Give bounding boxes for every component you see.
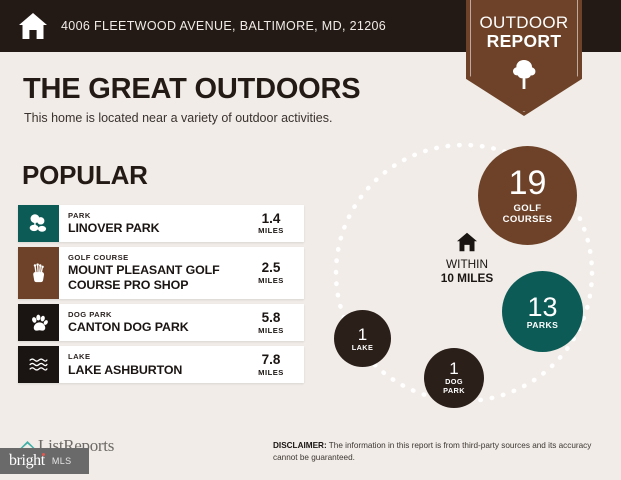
- stat-circle-dog-park[interactable]: 1 DOG PARK: [424, 348, 484, 408]
- stat-label-line1: DOG: [445, 377, 463, 386]
- stat-circle-lake[interactable]: 1 LAKE: [334, 310, 391, 367]
- golf-bag-icon: [27, 262, 50, 285]
- list-item-category: PARK: [68, 211, 244, 221]
- home-icon: [18, 12, 48, 40]
- badge-title: OUTDOOR REPORT: [466, 13, 582, 52]
- list-item-distance-value: 2.5: [262, 261, 281, 276]
- list-item-distance: 2.5 MILES: [244, 247, 304, 299]
- tree-icon: [509, 58, 539, 90]
- water-waves-icon: [27, 353, 50, 376]
- brightmls-wordmark: bright: [9, 452, 45, 470]
- list-item-icon-tile: [18, 205, 59, 242]
- list-item-distance: 1.4 MILES: [244, 205, 304, 242]
- list-item-icon-tile: [18, 304, 59, 341]
- page-subtitle: This home is located near a variety of o…: [24, 111, 332, 125]
- list-item-distance-value: 7.8: [262, 353, 281, 368]
- list-item-text: PARK LINOVER PARK: [59, 205, 244, 242]
- brightmls-suffix: MLS: [52, 456, 72, 466]
- list-item-name: MOUNT PLEASANT GOLF COURSE PRO SHOP: [68, 263, 244, 293]
- stat-label: PARKS: [527, 321, 558, 330]
- disclaimer: DISCLAIMER: The information in this repo…: [273, 440, 603, 464]
- list-item[interactable]: DOG PARK CANTON DOG PARK 5.8 MILES: [18, 304, 304, 341]
- home-icon: [456, 232, 478, 252]
- list-item-category: GOLF COURSE: [68, 253, 244, 263]
- stat-count: 13: [527, 293, 557, 321]
- stat-label: LAKE: [352, 344, 373, 352]
- disclaimer-label: DISCLAIMER:: [273, 441, 327, 450]
- park-trees-icon: [27, 212, 50, 235]
- stat-label-line2: COURSES: [503, 214, 553, 225]
- brightmls-logo: bright MLS: [0, 448, 89, 474]
- list-item-name: LAKE ASHBURTON: [68, 363, 244, 378]
- list-item-distance-unit: MILES: [258, 226, 284, 235]
- stat-circle-golf-courses[interactable]: 19 GOLF COURSES: [478, 146, 577, 245]
- stat-label: GOLF COURSES: [503, 203, 553, 225]
- list-item-icon-tile: [18, 247, 59, 299]
- property-address: 4006 FLEETWOOD AVENUE, BALTIMORE, MD, 21…: [61, 19, 386, 33]
- list-item-text: LAKE LAKE ASHBURTON: [59, 346, 244, 383]
- list-item-name: CANTON DOG PARK: [68, 320, 244, 335]
- diagram-center-text: WITHIN 10 MILES: [412, 257, 522, 286]
- list-item-distance-value: 1.4: [262, 212, 281, 227]
- list-item-name: LINOVER PARK: [68, 221, 244, 236]
- footer: ListReports bright MLS DISCLAIMER: The i…: [0, 432, 621, 480]
- badge-title-line2: REPORT: [466, 32, 582, 52]
- popular-places-list: PARK LINOVER PARK 1.4 MILES GOLF COURSE …: [18, 205, 304, 388]
- stat-label-line1: GOLF: [514, 203, 542, 214]
- list-item-distance: 5.8 MILES: [244, 304, 304, 341]
- list-item-icon-tile: [18, 346, 59, 383]
- list-item[interactable]: LAKE LAKE ASHBURTON 7.8 MILES: [18, 346, 304, 383]
- list-item-text: DOG PARK CANTON DOG PARK: [59, 304, 244, 341]
- page-title: THE GREAT OUTDOORS: [23, 73, 360, 106]
- brightmls-accent-dot: [42, 453, 45, 456]
- list-item[interactable]: PARK LINOVER PARK 1.4 MILES: [18, 205, 304, 242]
- list-item-distance: 7.8 MILES: [244, 346, 304, 383]
- list-item-distance-unit: MILES: [258, 276, 284, 285]
- center-text-line1: WITHIN: [412, 257, 522, 271]
- popular-section-heading: POPULAR: [22, 160, 148, 191]
- stat-label: DOG PARK: [443, 378, 465, 396]
- list-item-distance-unit: MILES: [258, 326, 284, 335]
- outdoor-report-badge: OUTDOOR REPORT: [466, 0, 582, 116]
- stat-count: 1: [449, 360, 458, 378]
- outdoor-summary-diagram: 19 GOLF COURSES 13 PARKS 1 LAKE 1 DOG PA…: [326, 140, 621, 425]
- list-item-distance-unit: MILES: [258, 368, 284, 377]
- list-item-distance-value: 5.8: [262, 311, 281, 326]
- center-text-line2: 10 MILES: [412, 271, 522, 285]
- list-item-category: LAKE: [68, 352, 244, 362]
- list-item[interactable]: GOLF COURSE MOUNT PLEASANT GOLF COURSE P…: [18, 247, 304, 299]
- diagram-center-block: WITHIN 10 MILES: [412, 232, 522, 286]
- stat-label-line2: PARK: [443, 386, 465, 395]
- stat-count: 19: [509, 166, 547, 202]
- stat-count: 1: [358, 326, 367, 344]
- list-item-text: GOLF COURSE MOUNT PLEASANT GOLF COURSE P…: [59, 247, 244, 299]
- list-item-category: DOG PARK: [68, 310, 244, 320]
- badge-title-line1: OUTDOOR: [466, 13, 582, 32]
- paw-print-icon: [28, 312, 50, 334]
